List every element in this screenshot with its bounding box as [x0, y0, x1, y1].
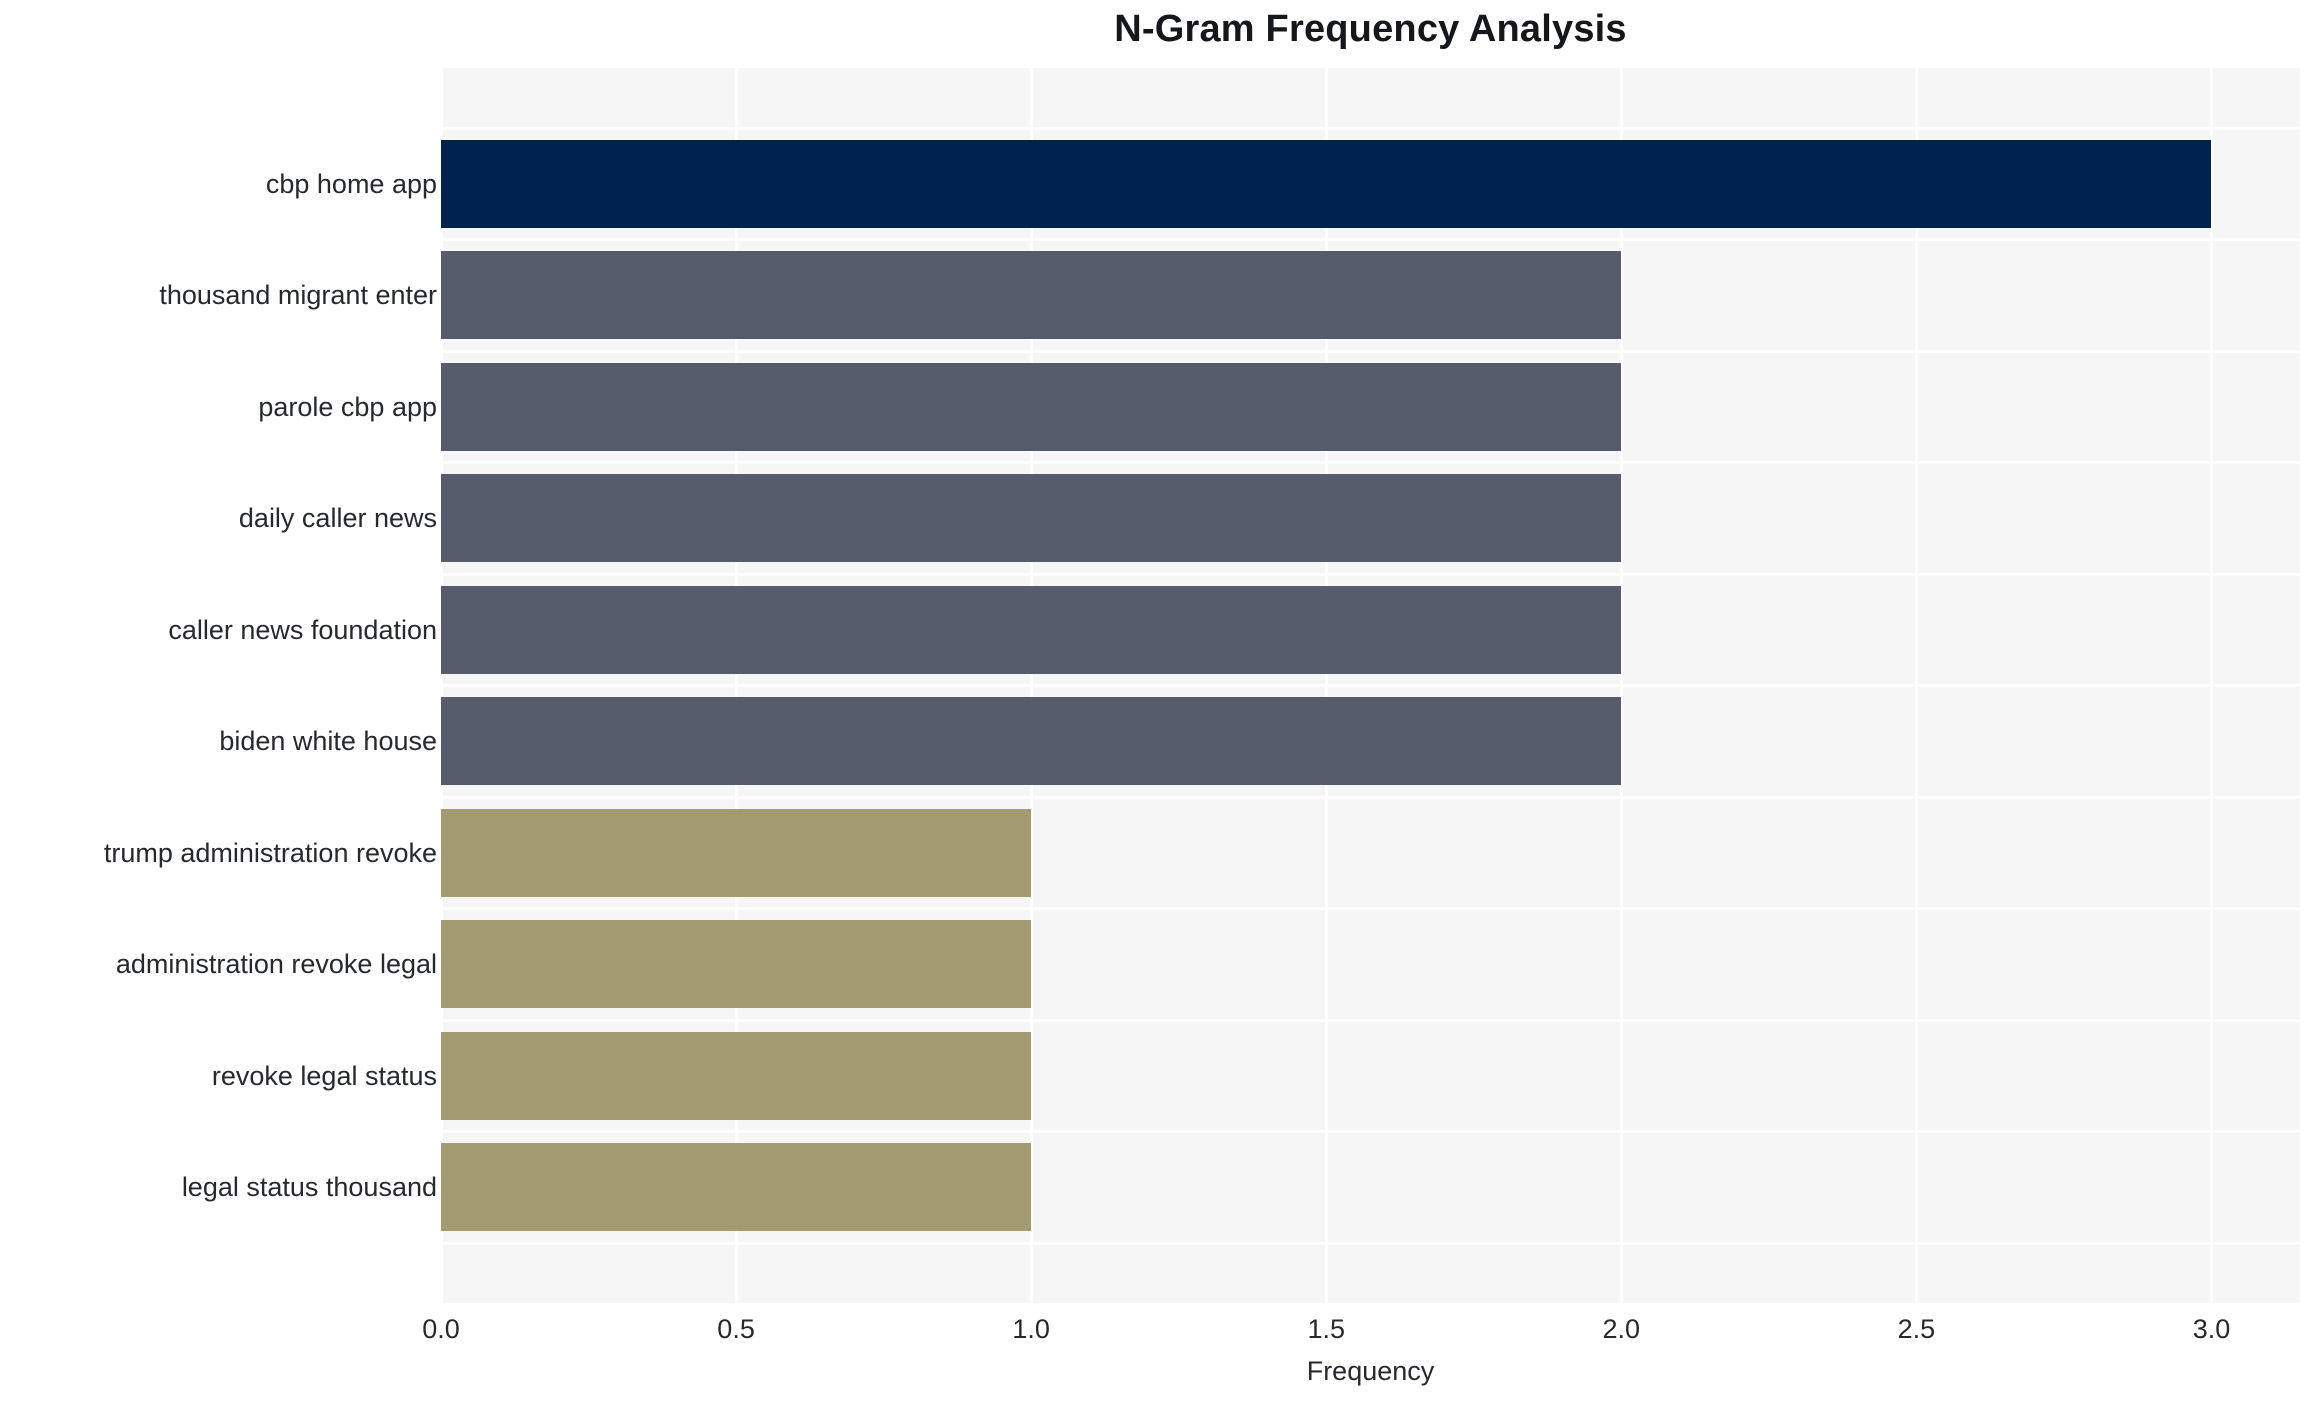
y-gridline [441, 461, 2300, 464]
x-tick-label: 3.0 [2131, 1313, 2291, 1345]
y-tick-label: revoke legal status [0, 1060, 437, 1092]
x-axis-label: Frequency [441, 1355, 2300, 1387]
y-tick-label: cbp home app [0, 168, 437, 200]
plot-area [441, 68, 2300, 1303]
bar[interactable] [441, 363, 1621, 451]
y-tick-label: biden white house [0, 725, 437, 757]
y-gridline [441, 573, 2300, 576]
x-tick-label: 1.0 [951, 1313, 1111, 1345]
bar[interactable] [441, 586, 1621, 674]
y-tick-label: thousand migrant enter [0, 279, 437, 311]
y-gridline [441, 127, 2300, 130]
bar[interactable] [441, 474, 1621, 562]
bar[interactable] [441, 697, 1621, 785]
y-gridline [441, 1019, 2300, 1022]
y-tick-label: parole cbp app [0, 391, 437, 423]
x-tick-label: 0.5 [656, 1313, 816, 1345]
y-gridline [441, 796, 2300, 799]
page-title: N-Gram Frequency Analysis [441, 6, 2300, 52]
y-tick-label: caller news foundation [0, 614, 437, 646]
y-gridline [441, 684, 2300, 687]
bar[interactable] [441, 140, 2211, 228]
y-gridline [441, 1130, 2300, 1133]
bar[interactable] [441, 251, 1621, 339]
bar[interactable] [441, 1032, 1031, 1120]
x-tick-label: 0.0 [361, 1313, 521, 1345]
y-gridline [441, 238, 2300, 241]
y-tick-label: trump administration revoke [0, 837, 437, 869]
y-tick-label: legal status thousand [0, 1171, 437, 1203]
chart-figure: N-Gram Frequency Analysis cbp home appth… [0, 0, 2320, 1402]
y-tick-label: daily caller news [0, 502, 437, 534]
y-gridline [441, 907, 2300, 910]
y-gridline [441, 1242, 2300, 1245]
y-tick-label: administration revoke legal [0, 948, 437, 980]
bar[interactable] [441, 809, 1031, 897]
x-tick-label: 1.5 [1246, 1313, 1406, 1345]
x-tick-label: 2.0 [1541, 1313, 1701, 1345]
x-tick-label: 2.5 [1836, 1313, 1996, 1345]
y-gridline [441, 350, 2300, 353]
bar[interactable] [441, 920, 1031, 1008]
bar[interactable] [441, 1143, 1031, 1231]
